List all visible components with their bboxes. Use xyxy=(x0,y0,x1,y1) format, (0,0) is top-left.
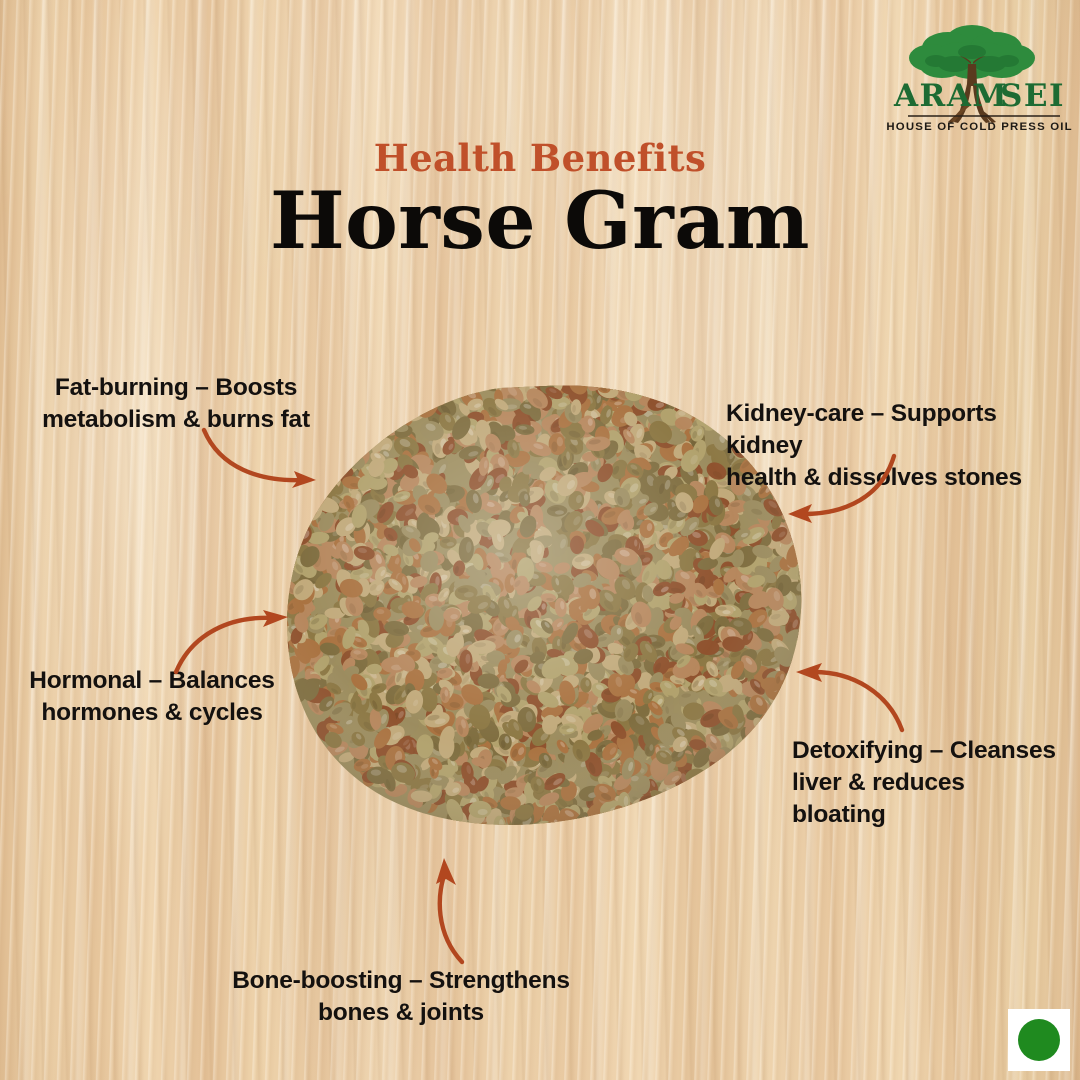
brand-name-left: ARAM xyxy=(893,78,1008,114)
curved-arrow-up-icon xyxy=(414,856,490,968)
benefit-label-bone-boosting: Bone-boosting – Strengthens bones & join… xyxy=(232,965,570,1029)
veg-dot-icon xyxy=(1018,1019,1060,1061)
curved-arrow-up-left-icon xyxy=(786,650,918,736)
vegetarian-mark xyxy=(1008,1009,1070,1071)
page-title: Horse Gram xyxy=(0,181,1080,260)
brand-tagline: HOUSE OF COLD PRESS OILS xyxy=(886,121,1072,133)
curved-arrow-down-right-icon xyxy=(186,424,336,494)
curved-arrow-up-right-icon xyxy=(164,600,306,678)
poster-canvas: ARAM SEI HOUSE OF COLD PRESS OILS Health… xyxy=(0,0,1080,1080)
brand-name-right: SEI xyxy=(1000,78,1065,114)
benefit-label-detoxifying: Detoxifying – Cleanses liver & reduces b… xyxy=(792,735,1058,831)
curved-arrow-down-left-icon xyxy=(766,452,912,528)
brand-logo: ARAM SEI HOUSE OF COLD PRESS OILS xyxy=(872,6,1072,134)
